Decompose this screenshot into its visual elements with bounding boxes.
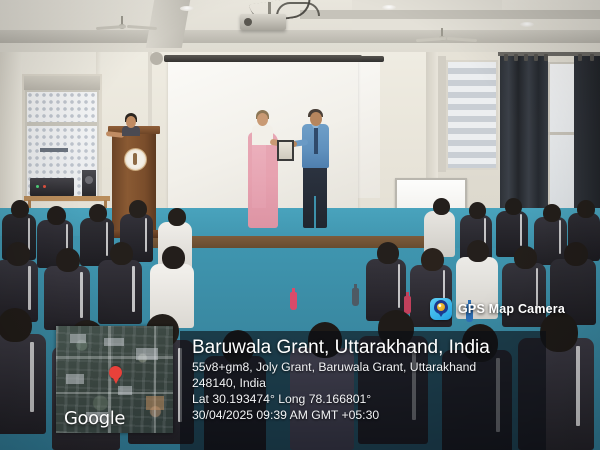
right-window-bar	[548, 132, 576, 135]
map-building	[146, 396, 164, 410]
presenter-woman-head	[257, 113, 268, 126]
presenter-man-tie	[314, 128, 318, 154]
water-bottle	[404, 296, 411, 314]
location-title: Baruwala Grant, Uttarakhand, India	[192, 337, 546, 359]
google-attribution-label: Google	[64, 408, 125, 429]
map-road	[154, 326, 156, 433]
curtain-hook	[590, 54, 594, 61]
curtain-hook	[578, 54, 582, 61]
gps-map-camera-logo-icon	[430, 298, 452, 320]
ceiling-beam-right	[300, 10, 600, 19]
window-bar	[27, 122, 97, 126]
map-building	[104, 338, 124, 346]
map-building	[66, 374, 84, 384]
window-sticker	[40, 148, 68, 152]
award-plaque	[277, 140, 294, 161]
curtain-hook	[524, 54, 528, 61]
water-bottle	[290, 292, 297, 310]
ceiling-downlight	[520, 22, 534, 27]
screenshot-root: GPS Map Camera Google Baruwala Grant, Ut…	[0, 0, 600, 450]
gps-map-camera-label: GPS Map Camera	[458, 302, 565, 316]
ceiling-downlight	[180, 6, 194, 11]
map-building	[70, 334, 86, 343]
location-address-line-1: 55v8+gm8, Joly Grant, Baruwala Grant, Ut…	[192, 359, 546, 375]
curtain-hook	[504, 54, 508, 61]
ceiling-beam	[0, 30, 600, 43]
louvre-window	[446, 60, 498, 170]
projector-lens-icon	[244, 18, 252, 26]
projection-screen-case	[164, 55, 362, 62]
location-timestamp: 30/04/2025 09:39 AM GMT +05:30	[192, 407, 546, 423]
gps-map-camera-watermark: GPS Map Camera	[430, 297, 565, 321]
amplifier-led-icon	[43, 185, 46, 188]
amplifier-led-icon	[36, 185, 39, 188]
map-building	[136, 348, 158, 360]
screen-mount-knob	[150, 52, 163, 65]
curtain-hook	[514, 54, 518, 61]
map-building	[118, 386, 132, 395]
louvre-frame	[438, 56, 446, 172]
ceiling-projector	[240, 14, 286, 30]
location-info-panel: Baruwala Grant, Uttarakhand, India 55v8+…	[180, 331, 546, 450]
curtain-hook	[534, 54, 538, 61]
podium-speaker-head	[126, 116, 136, 128]
location-coordinates: Lat 30.193474° Long 78.166801°	[192, 391, 546, 407]
podium-emblem-icon	[124, 148, 147, 171]
water-bottle	[352, 288, 359, 306]
window-blind	[24, 76, 100, 90]
curtain-hook	[544, 54, 548, 61]
presenter-man-head	[310, 112, 322, 126]
map-pin-icon	[109, 366, 122, 379]
right-window	[548, 62, 576, 212]
ceiling-downlight	[382, 5, 396, 10]
speaker-cone-icon	[85, 176, 93, 184]
camera-lens-shape	[437, 303, 445, 311]
map-thumbnail[interactable]: Google	[56, 326, 173, 433]
location-address-line-2: 248140, India	[192, 375, 546, 391]
